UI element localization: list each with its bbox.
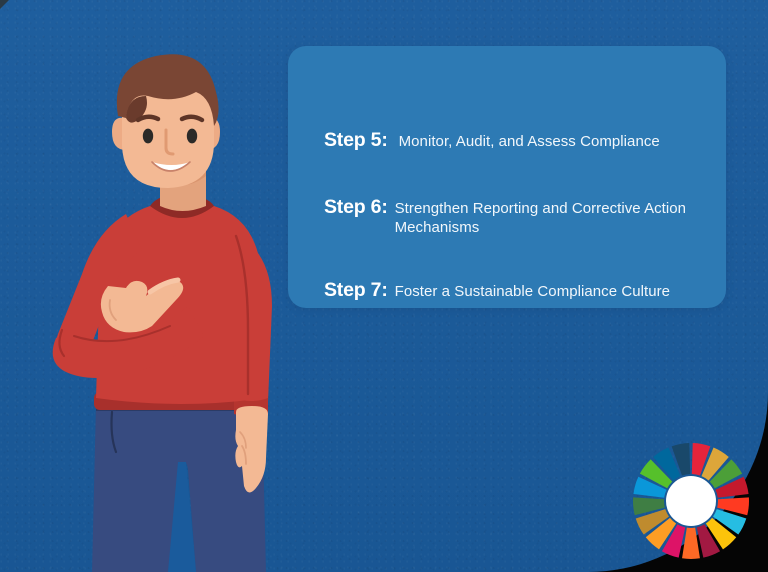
step-row-5: Step 5: Monitor, Audit, and Assess Compl…: [324, 128, 712, 152]
slide-canvas: Step 5: Monitor, Audit, and Assess Compl…: [0, 0, 768, 572]
step-5-label: Step 5:: [324, 128, 388, 152]
step-row-7: Step 7: Foster a Sustainable Compliance …: [324, 278, 712, 302]
step-5-text: Monitor, Audit, and Assess Compliance: [399, 133, 660, 152]
step-7-label: Step 7:: [324, 278, 388, 302]
head: [117, 54, 219, 188]
step-6-label: Step 6:: [324, 195, 388, 219]
right-eye: [187, 129, 197, 144]
step-row-6: Step 6: Strengthen Reporting and Correct…: [324, 195, 712, 238]
step-6-text: Strengthen Reporting and Corrective Acti…: [395, 200, 703, 238]
step-7-text: Foster a Sustainable Compliance Culture: [395, 283, 670, 302]
left-eye: [143, 129, 153, 144]
steps-card: Step 5: Monitor, Audit, and Assess Compl…: [288, 46, 726, 308]
